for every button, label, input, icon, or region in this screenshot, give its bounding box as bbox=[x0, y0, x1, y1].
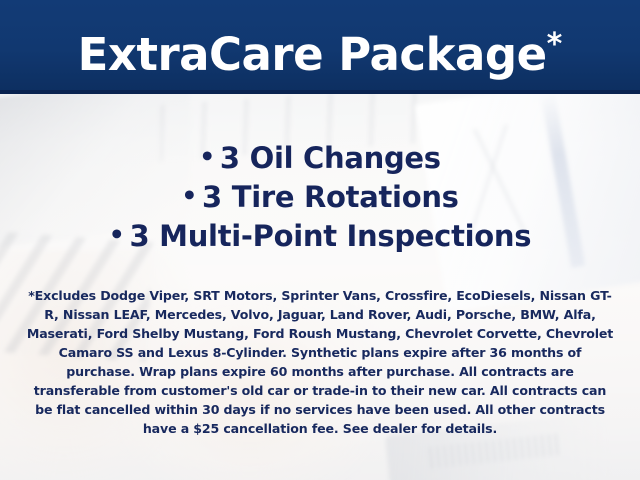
disclaimer-text: *Excludes Dodge Viper, SRT Motors, Sprin… bbox=[24, 286, 616, 438]
features-list: •3 Oil Changes •3 Tire Rotations •3 Mult… bbox=[0, 138, 640, 255]
bullet-icon: • bbox=[181, 181, 197, 210]
bullet-icon: • bbox=[109, 220, 125, 249]
feature-item-multi-point-inspections: •3 Multi-Point Inspections bbox=[0, 216, 640, 255]
feature-item-label: 3 Tire Rotations bbox=[202, 180, 459, 214]
extracare-package-ad: ExtraCare Package* •3 Oil Changes •3 Tir… bbox=[0, 0, 640, 480]
header-banner-rule bbox=[0, 90, 640, 94]
page-title: ExtraCare Package* bbox=[0, 16, 640, 84]
bullet-icon: • bbox=[199, 142, 215, 171]
feature-item-label: 3 Oil Changes bbox=[220, 141, 441, 175]
feature-item-label: 3 Multi-Point Inspections bbox=[129, 219, 531, 253]
feature-item-oil-changes: •3 Oil Changes bbox=[0, 138, 640, 177]
page-title-asterisk: * bbox=[547, 27, 563, 62]
feature-item-tire-rotations: •3 Tire Rotations bbox=[0, 177, 640, 216]
page-title-text: ExtraCare Package bbox=[78, 28, 547, 81]
